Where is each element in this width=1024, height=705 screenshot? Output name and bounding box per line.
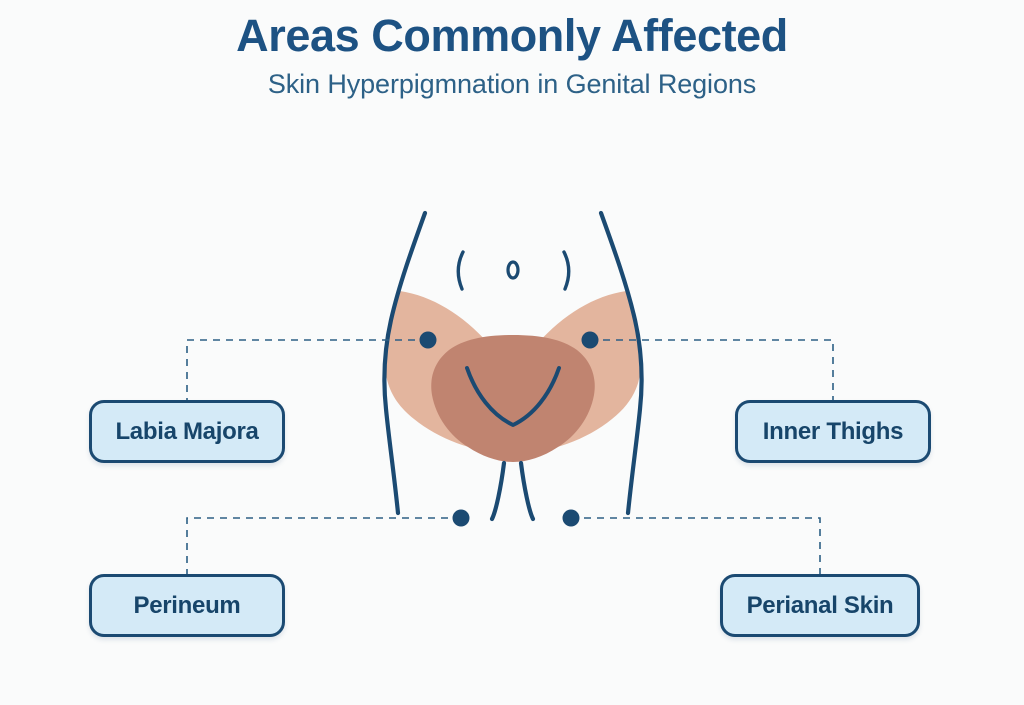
left-inner-thigh-line <box>492 463 504 519</box>
infographic-root: Areas Commonly Affected Skin Hyperpigmna… <box>0 0 1024 700</box>
genital-region <box>431 335 595 462</box>
marker-perineum-dot[interactable] <box>453 510 470 527</box>
label-perineum[interactable]: Perineum <box>89 574 285 637</box>
shaded-regions <box>385 291 641 462</box>
right-hip-crease <box>564 252 569 289</box>
connector-perineum <box>187 518 461 574</box>
marker-inner-thighs-dot[interactable] <box>582 332 599 349</box>
label-perianal-skin-text: Perianal Skin <box>747 592 894 620</box>
right-inner-thigh-line <box>521 463 533 519</box>
left-hip-crease <box>458 252 463 289</box>
label-perineum-text: Perineum <box>134 592 241 620</box>
navel-icon <box>508 262 518 278</box>
marker-labia-majora-dot[interactable] <box>420 332 437 349</box>
label-inner-thighs-text: Inner Thighs <box>763 418 903 446</box>
marker-perianal-skin-dot[interactable] <box>563 510 580 527</box>
label-inner-thighs[interactable]: Inner Thighs <box>735 400 931 463</box>
label-perianal-skin[interactable]: Perianal Skin <box>720 574 920 637</box>
label-labia-majora[interactable]: Labia Majora <box>89 400 285 463</box>
connector-perianal-skin <box>571 518 820 574</box>
label-labia-majora-text: Labia Majora <box>115 418 258 446</box>
